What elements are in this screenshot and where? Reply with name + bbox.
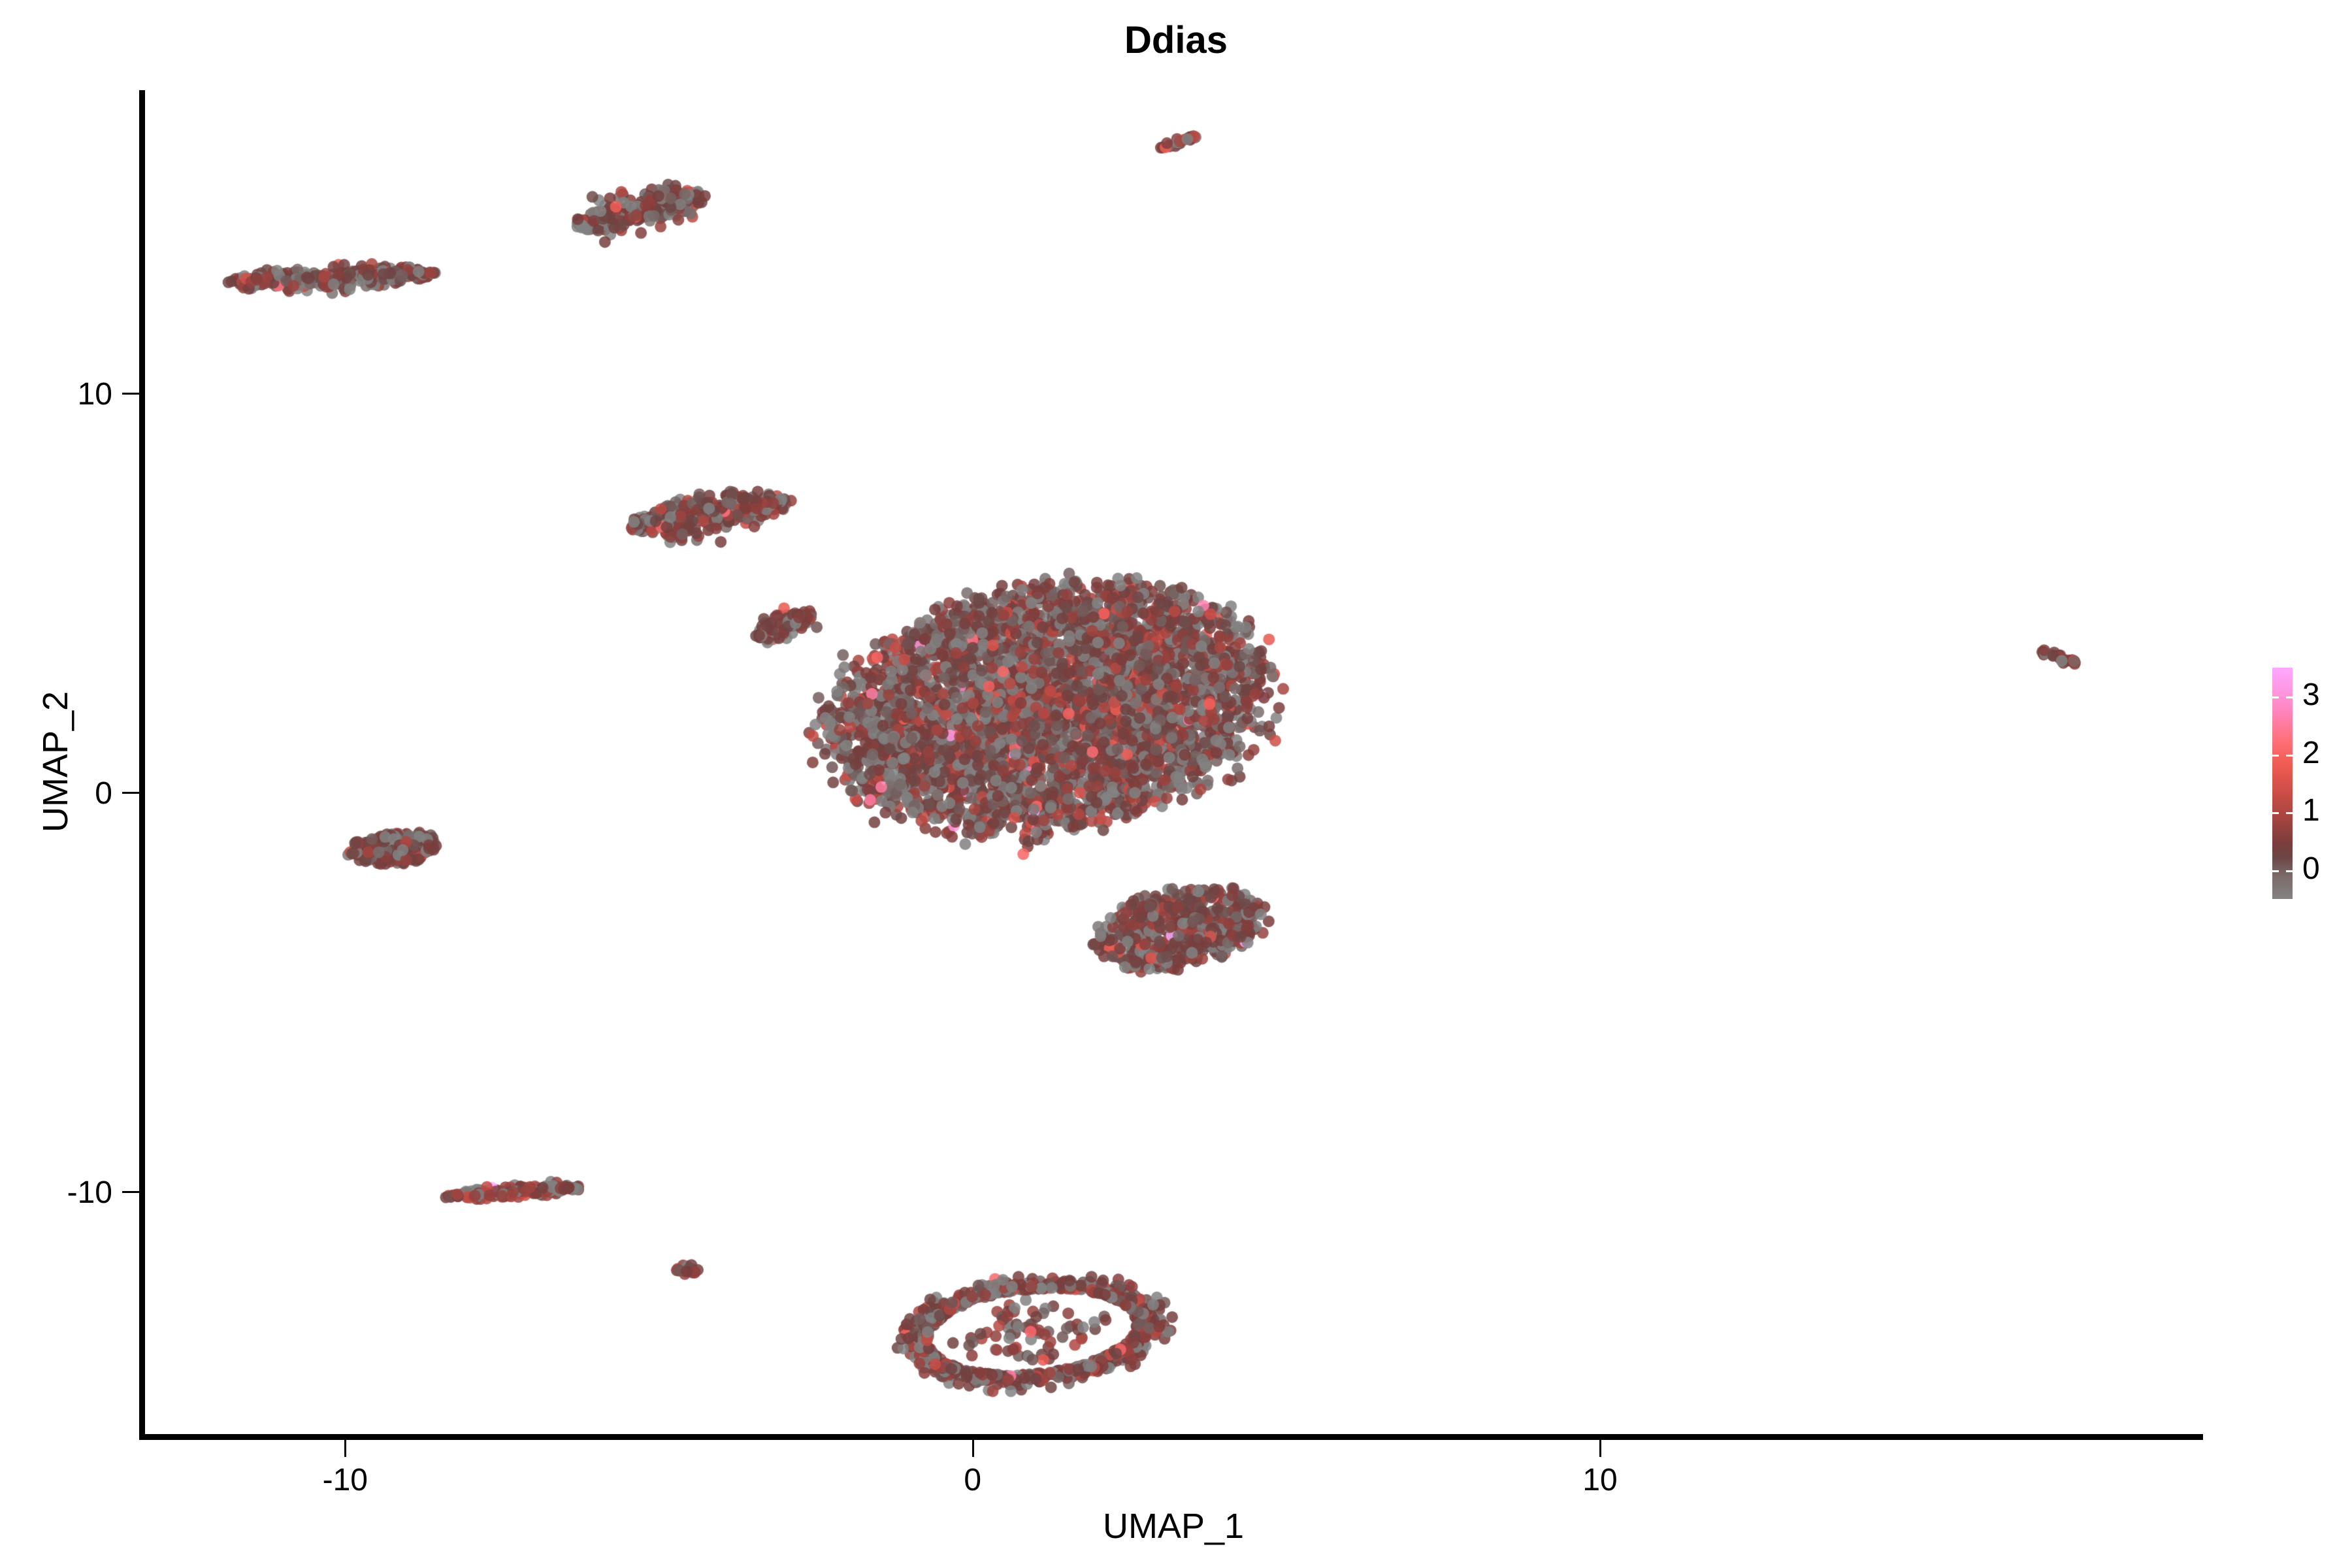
x-tick-label: 10: [1535, 1462, 1665, 1498]
legend-label: 2: [2302, 738, 2320, 769]
x-tick-mark: [972, 1440, 974, 1457]
y-tick-mark: [122, 393, 139, 395]
x-tick-label: -10: [280, 1462, 410, 1498]
legend-tick-mark: [2272, 870, 2279, 872]
x-tick-label: 0: [907, 1462, 1038, 1498]
y-axis-title: UMAP_2: [35, 468, 76, 1056]
y-tick-label: 10: [0, 376, 112, 412]
y-tick-mark: [122, 1191, 139, 1193]
umap-feature-plot: Ddias -10010 -10010 UMAP_1 UMAP_2 3210: [0, 0, 2352, 1568]
page-title: Ddias: [0, 18, 2352, 62]
plot-panel: [144, 90, 2202, 1439]
legend-tick-mark: [2286, 812, 2293, 814]
legend-label: 1: [2302, 795, 2320, 826]
scatter-points-layer: [144, 90, 2202, 1439]
legend-gradient-bar: [2272, 668, 2293, 899]
y-tick-mark: [122, 792, 139, 794]
x-axis-line: [139, 1434, 2203, 1440]
legend-label: 0: [2302, 853, 2320, 885]
legend-tick-mark: [2286, 755, 2293, 757]
legend-tick-mark: [2272, 812, 2279, 814]
legend-tick-mark: [2286, 696, 2293, 698]
legend-tick-mark: [2286, 870, 2293, 872]
x-tick-mark: [1599, 1440, 1601, 1457]
x-axis-title: UMAP_1: [144, 1506, 2202, 1546]
legend-tick-mark: [2272, 755, 2279, 757]
legend-colorbar: 3210: [2261, 647, 2345, 921]
legend-tick-mark: [2272, 696, 2279, 698]
y-axis-line: [139, 90, 145, 1440]
y-tick-label: -10: [0, 1175, 112, 1211]
x-tick-mark: [344, 1440, 346, 1457]
legend-label: 3: [2302, 679, 2320, 711]
